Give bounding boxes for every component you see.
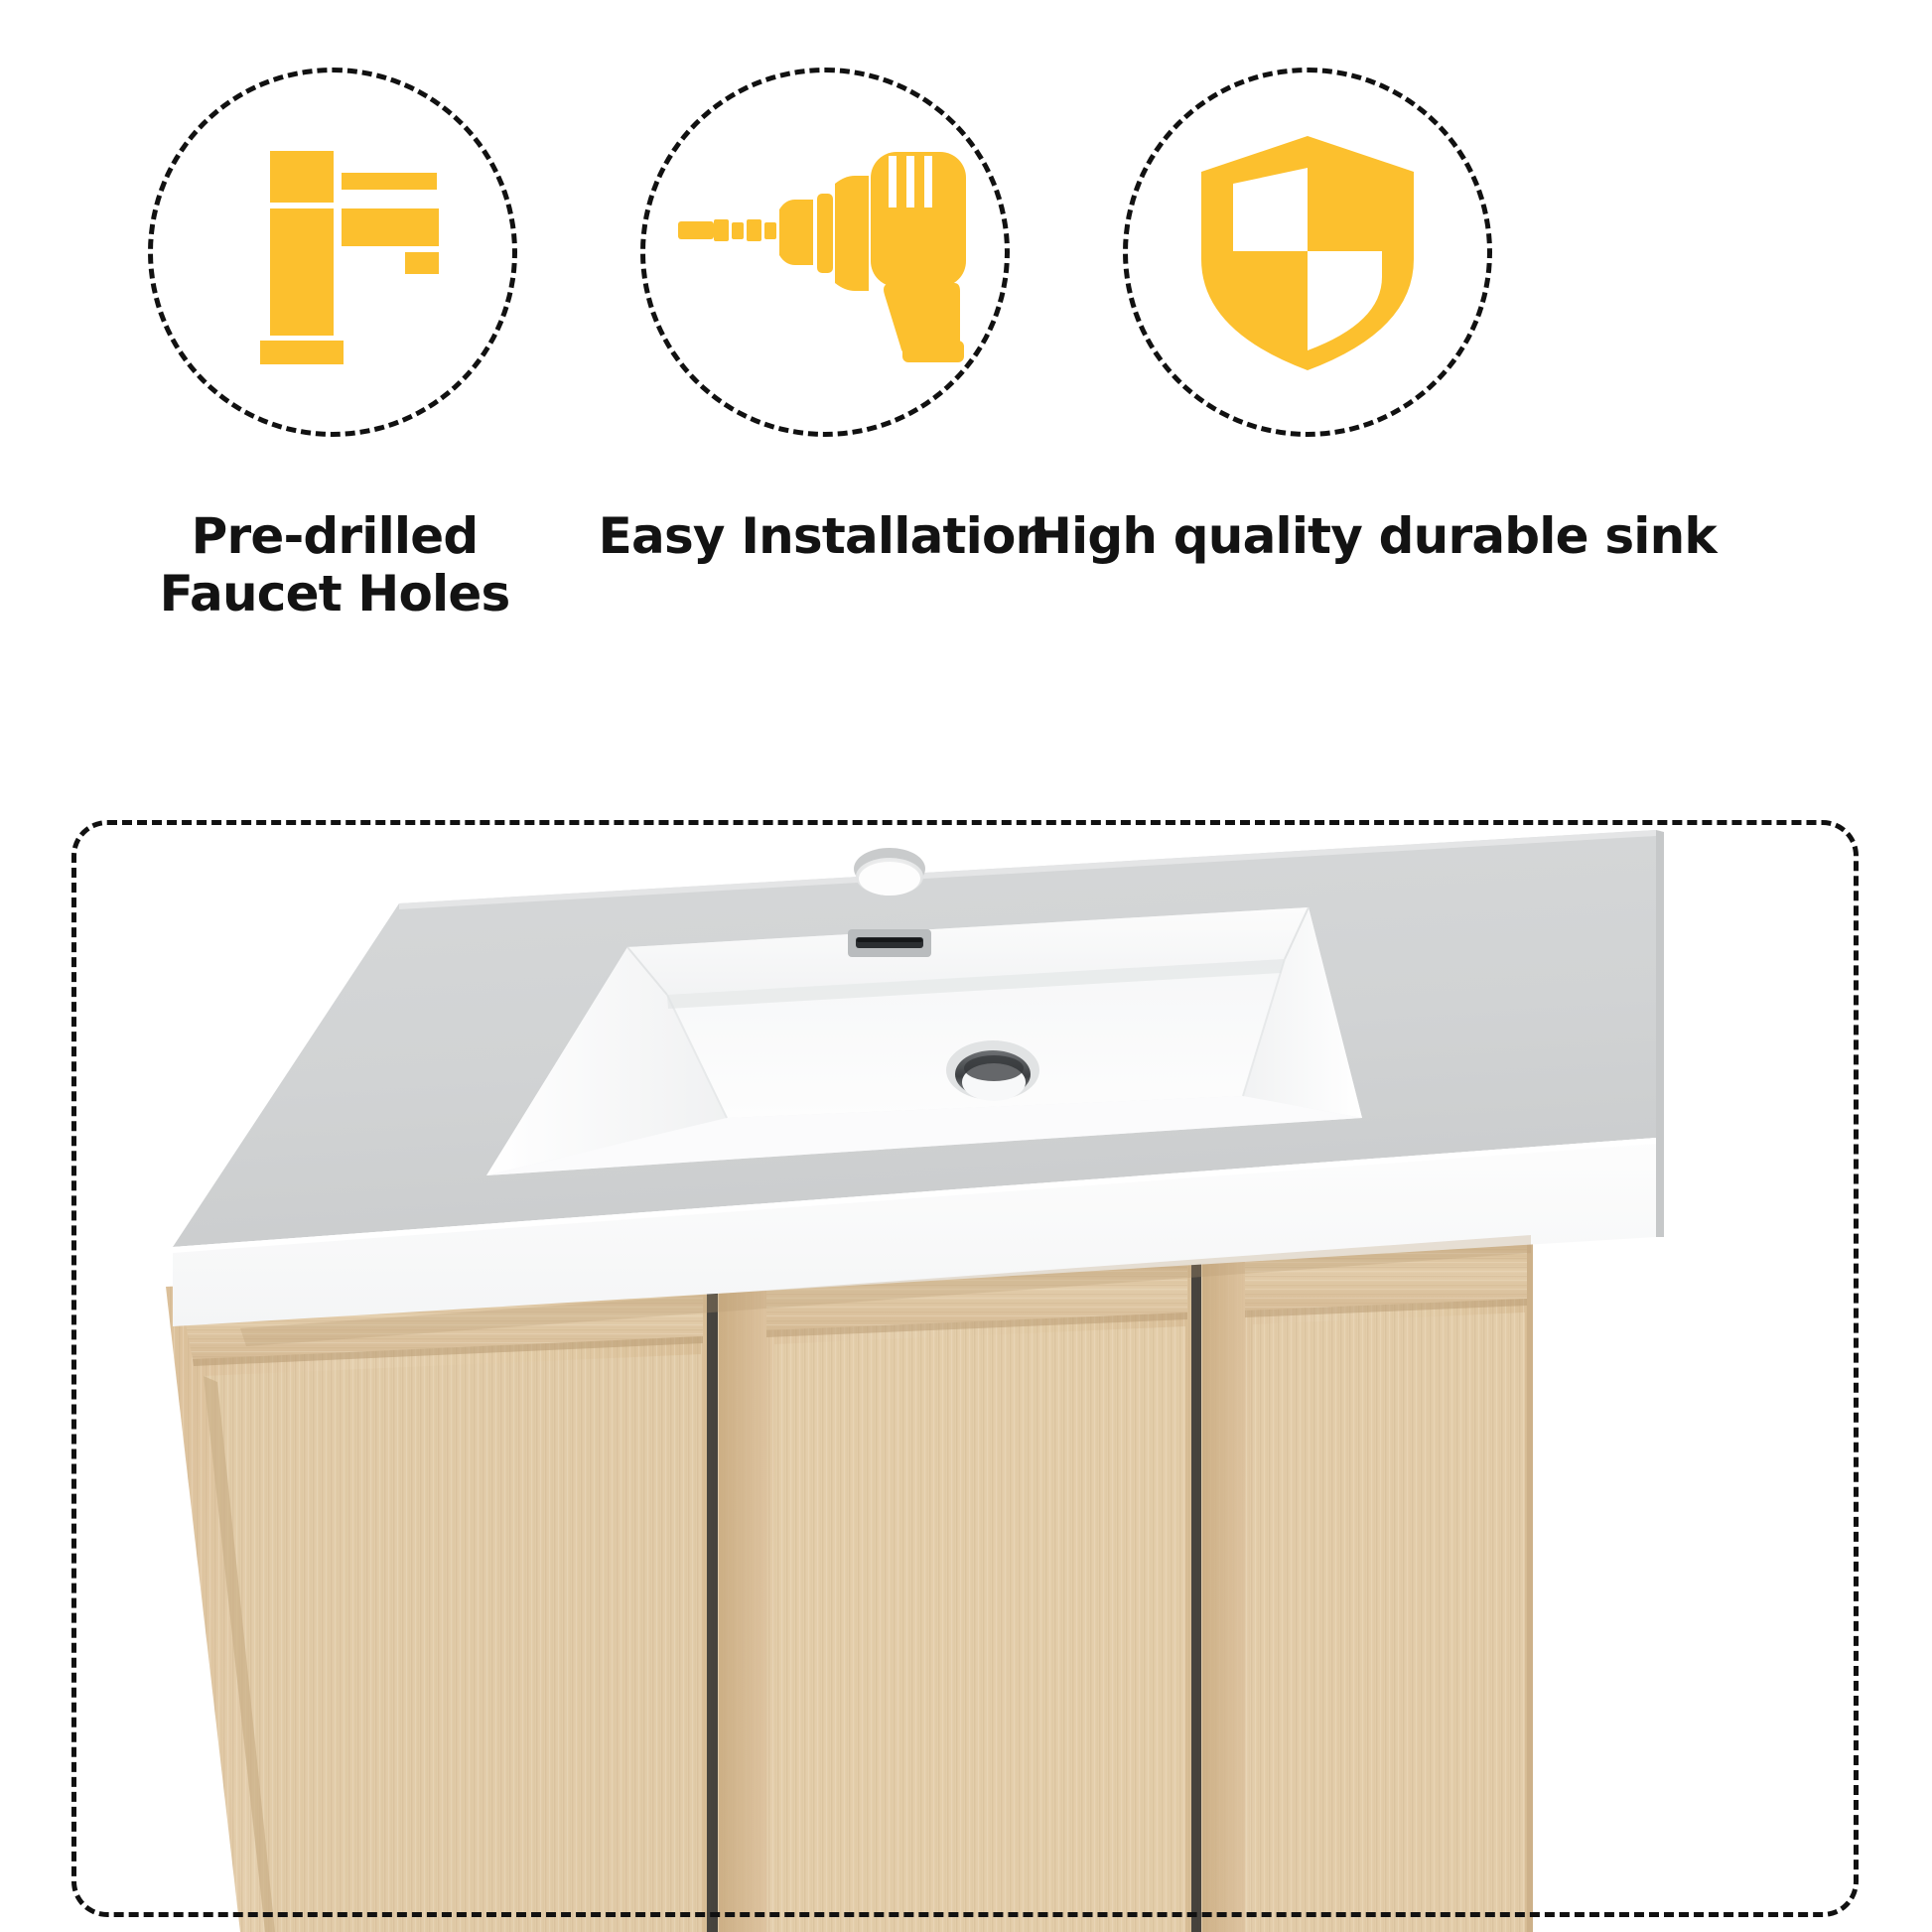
shield-icon [1128, 72, 1487, 432]
feature-card-high-quality-durable-sink: High quality durable sink [1013, 0, 1569, 794]
product-photo-dashed-frame [71, 820, 1859, 1917]
power-drill-icon [645, 72, 1005, 432]
feature-card-easy-installation: Easy Installation [536, 0, 1092, 794]
dashed-circle-frame [148, 68, 517, 437]
dashed-circle-frame [640, 68, 1010, 437]
dashed-circle-frame [1123, 68, 1492, 437]
feature-card-pre-drilled-faucet-holes: Pre-drilled Faucet Holes [55, 0, 611, 794]
feature-caption: Pre-drilled Faucet Holes [57, 508, 613, 622]
faucet-icon [153, 72, 512, 432]
feature-highlights-strip: Pre-drilled Faucet Holes [0, 0, 1932, 794]
feature-caption: High quality durable sink [1031, 508, 1884, 566]
